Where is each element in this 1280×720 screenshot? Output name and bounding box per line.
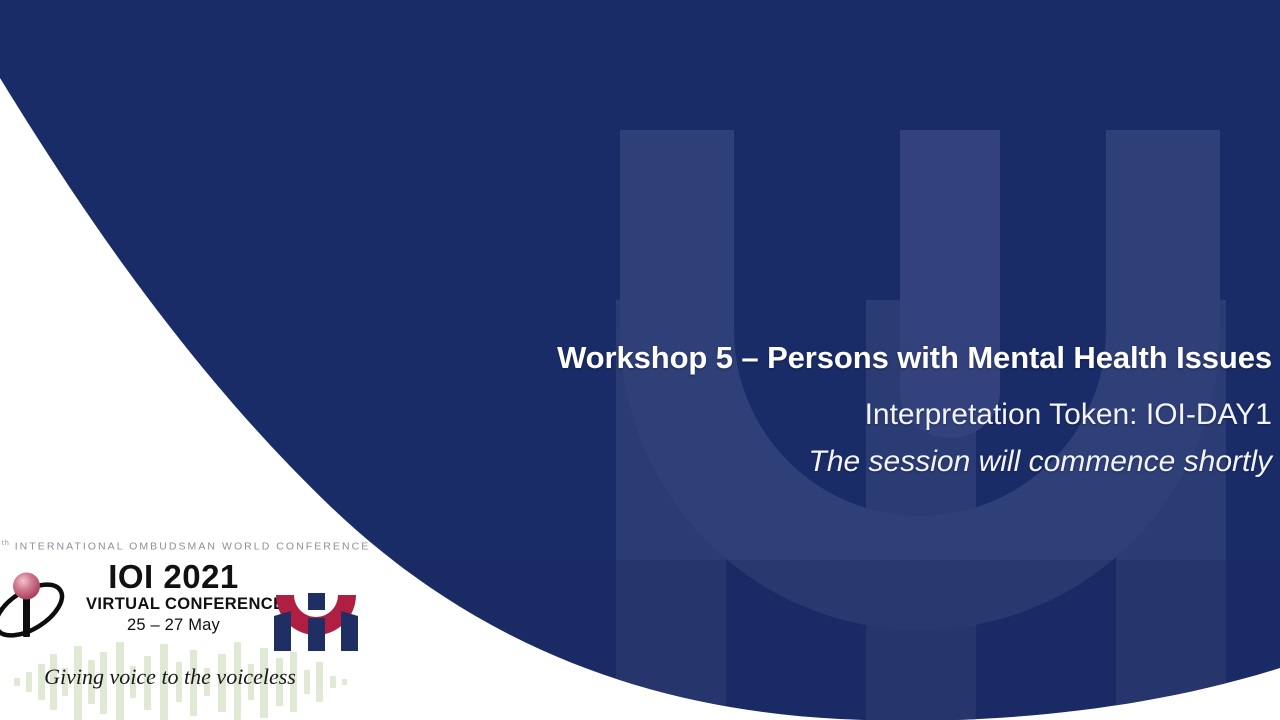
- logo-row: IOI 2021 VIRTUAL CONFERENCE 25 – 27 May: [0, 560, 380, 652]
- ioi-wordmark: IOI 2021 VIRTUAL CONFERENCE 25 – 27 May: [86, 560, 261, 637]
- orbit-stem: [23, 597, 30, 637]
- title-block: Workshop 5 – Persons with Mental Health …: [412, 340, 1272, 480]
- interpretation-token: Interpretation Token: IOI-DAY1: [412, 397, 1272, 433]
- slide-canvas: Workshop 5 – Persons with Mental Health …: [0, 0, 1280, 720]
- tagline-text: Giving voice to the voiceless: [0, 664, 340, 690]
- conference-ordinal-suffix: th: [2, 540, 10, 547]
- session-status-message: The session will commence shortly: [412, 444, 1272, 480]
- ioi-year-text: IOI 2021: [86, 560, 261, 594]
- ioi-subtitle-text: VIRTUAL CONFERENCE: [86, 594, 261, 615]
- ioi-orbit-sphere-icon: [0, 564, 68, 644]
- orbit-sphere: [13, 573, 40, 600]
- emblem-head: [308, 593, 325, 610]
- ioi-dates-text: 25 – 27 May: [86, 615, 261, 636]
- session-title: Workshop 5 – Persons with Mental Health …: [412, 340, 1272, 377]
- conference-kicker: 2th INTERNATIONAL OMBUDSMAN WORLD CONFER…: [0, 540, 374, 553]
- tagline-block: Giving voice to the voiceless: [0, 642, 380, 720]
- conference-logo-lockup: 2th INTERNATIONAL OMBUDSMAN WORLD CONFER…: [0, 534, 380, 720]
- conference-kicker-text: INTERNATIONAL OMBUDSMAN WORLD CONFERENCE: [10, 541, 371, 553]
